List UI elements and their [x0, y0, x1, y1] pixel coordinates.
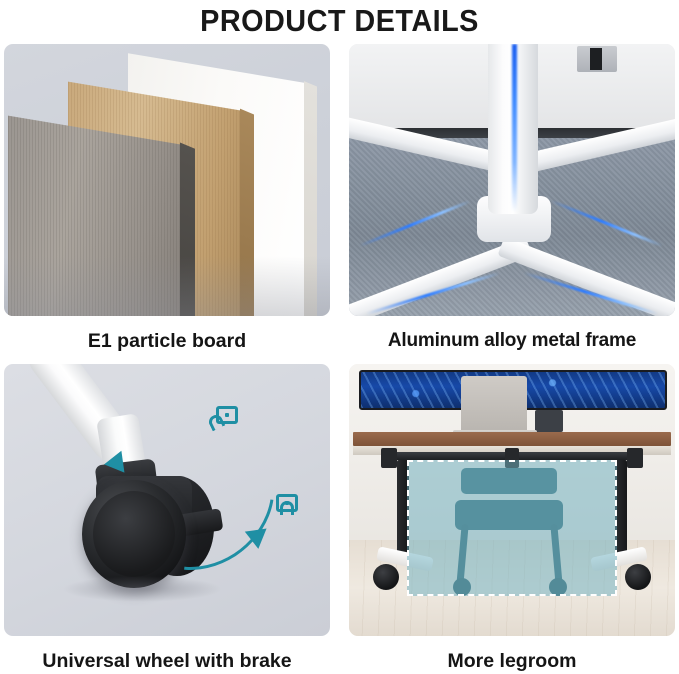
detail-card-universal-wheel-with-brake[interactable]: Universal wheel with brake	[4, 364, 330, 674]
legroom-desk-caster-right	[625, 564, 651, 590]
detail-card-e1-particle-board[interactable]: E1 particle board	[4, 44, 330, 354]
legroom-desk-top	[353, 432, 671, 446]
detail-card-aluminum-alloy-metal-frame[interactable]: Aluminum alloy metal frame	[349, 44, 675, 354]
arrow-head-lock	[245, 529, 269, 551]
legroom-laptop-screen	[461, 376, 527, 432]
legroom-clamp-right	[627, 448, 643, 468]
caption-aluminum-alloy-metal-frame: Aluminum alloy metal frame	[349, 328, 675, 354]
legroom-desk-caster-left	[373, 564, 399, 590]
caption-e1-particle-board: E1 particle board	[4, 328, 330, 354]
e1-particle-board-image	[4, 44, 330, 316]
frame-column-blue-glow	[512, 44, 517, 212]
universal-wheel-image	[4, 364, 330, 636]
caption-more-legroom: More legroom	[349, 648, 675, 674]
unlock-icon-body	[216, 406, 238, 424]
frame-socket	[577, 46, 617, 72]
more-legroom-image	[349, 364, 675, 636]
lock-icon-body	[276, 494, 298, 512]
legroom-clamp-left	[381, 448, 397, 468]
product-details-page: PRODUCT DETAILS E1 particle board	[0, 0, 679, 673]
boards-shadow	[4, 256, 330, 316]
aluminum-frame-image	[349, 44, 675, 316]
details-grid: E1 particle board Aluminum al	[0, 44, 679, 673]
legroom-monitor-stand	[535, 410, 563, 432]
wheel-shadow	[62, 576, 222, 602]
detail-card-more-legroom[interactable]: More legroom	[349, 364, 675, 674]
caption-universal-wheel-with-brake: Universal wheel with brake	[4, 648, 330, 674]
arrow-head-unlock	[103, 451, 125, 475]
legroom-highlight-area	[407, 460, 617, 596]
page-title: PRODUCT DETAILS	[24, 2, 655, 42]
